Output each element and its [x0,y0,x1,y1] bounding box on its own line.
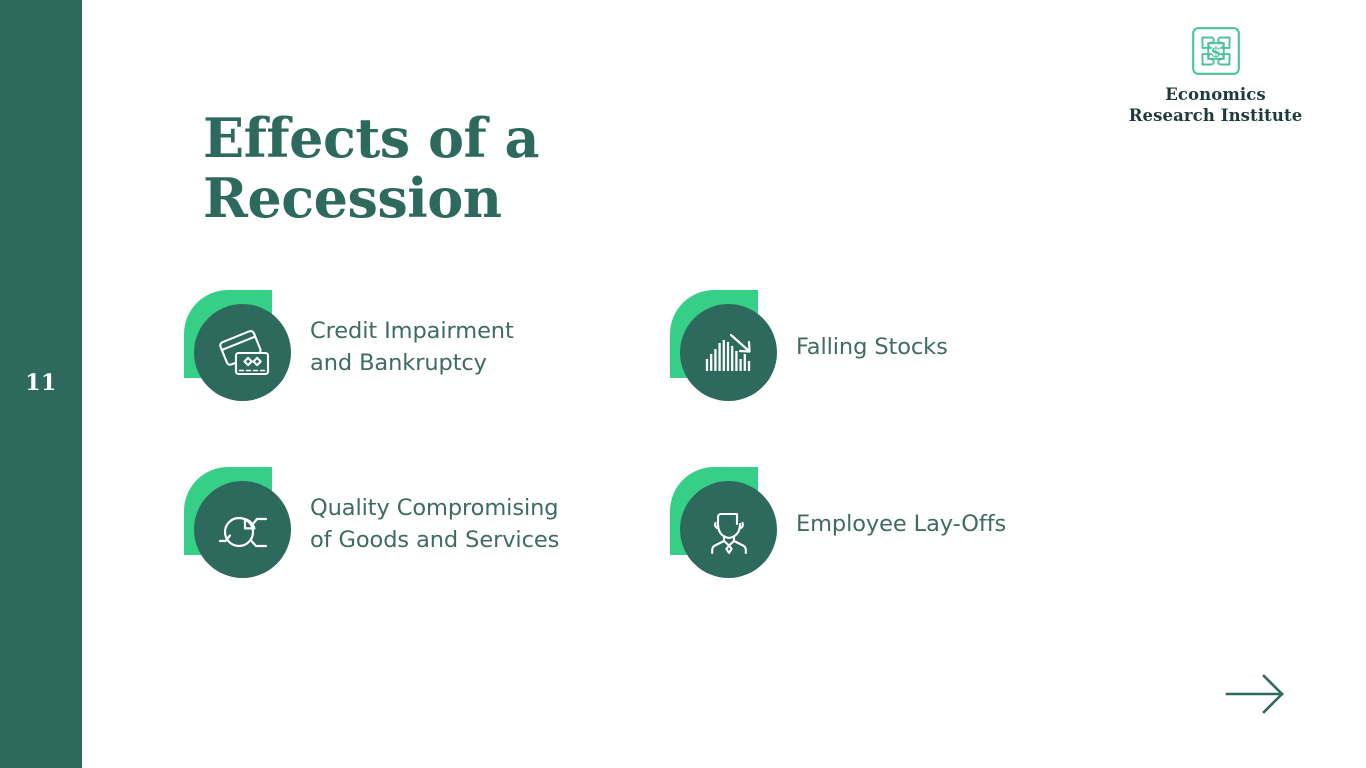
page-title: Effects of a Recession [203,108,623,229]
svg-text:$: $ [1210,43,1220,61]
list-item[interactable]: Employee Lay-Offs [666,465,1006,585]
logo-text-line-1: Economics [1123,84,1308,105]
logo-text-line-2: Research Institute [1123,105,1308,126]
slide-canvas: 11 $ Economics Research Institute Effect… [0,0,1366,768]
puzzle-dollar-icon: $ [1191,26,1241,76]
employee-person-icon [680,481,777,578]
item-badge [180,465,300,585]
quality-pie-analysis-icon [194,481,291,578]
list-item-label: Quality Compromising of Goods and Servic… [310,493,559,557]
list-item[interactable]: Quality Compromising of Goods and Servic… [180,465,559,585]
left-sidebar: 11 [0,0,82,768]
item-badge [180,288,300,408]
credit-cards-icon [194,304,291,401]
list-item[interactable]: Credit Impairment and Bankruptcy [180,288,514,408]
list-item[interactable]: Falling Stocks [666,288,948,408]
brand-logo: $ Economics Research Institute [1123,26,1308,126]
item-badge [666,465,786,585]
list-item-label: Credit Impairment and Bankruptcy [310,316,514,380]
list-item-label: Employee Lay-Offs [796,509,1006,541]
page-number: 11 [0,370,82,396]
item-badge [666,288,786,408]
falling-bar-chart-icon [680,304,777,401]
arrow-right-icon[interactable] [1224,668,1288,720]
list-item-label: Falling Stocks [796,332,948,364]
